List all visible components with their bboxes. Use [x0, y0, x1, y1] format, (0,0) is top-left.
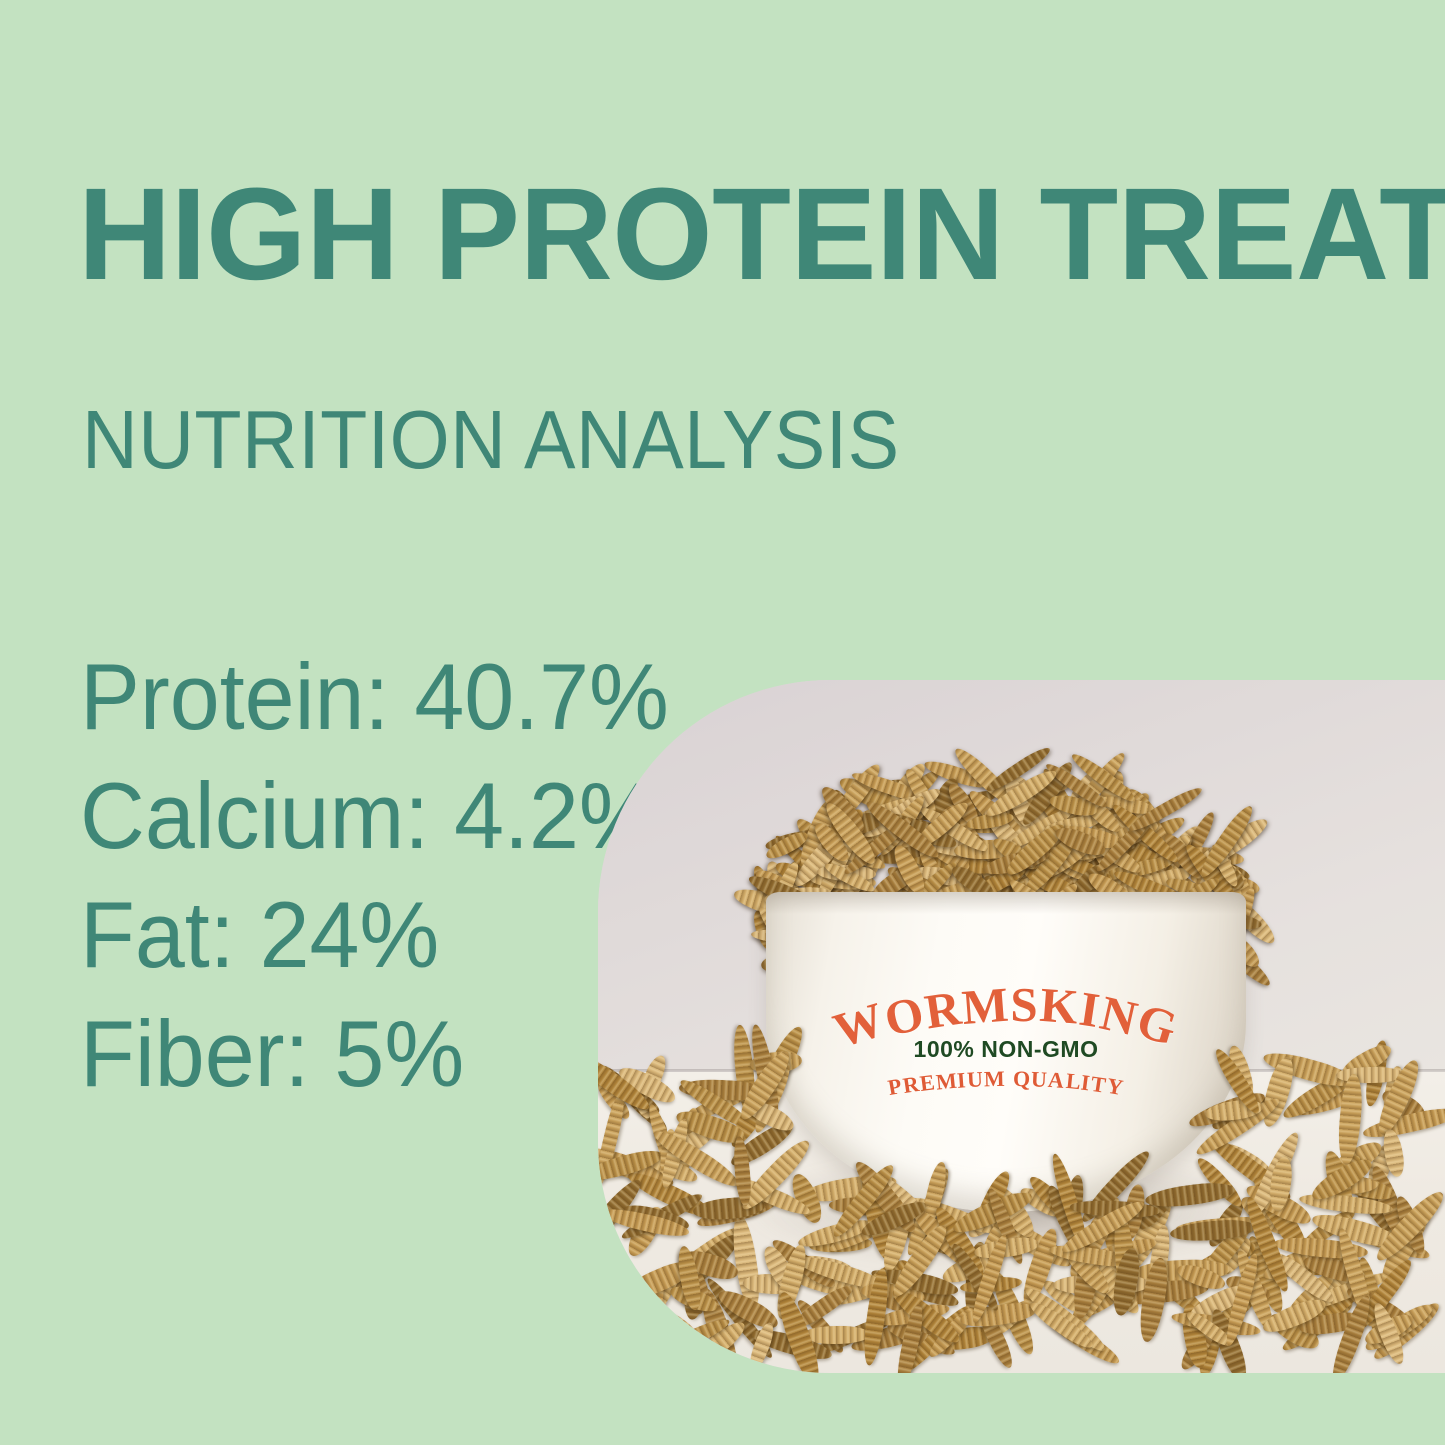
- list-item: Fiber: 5%: [80, 994, 672, 1113]
- poster-canvas: HIGH PROTEIN TREATS NUTRITION ANALYSIS P…: [0, 0, 1445, 1445]
- section-subtitle: NUTRITION ANALYSIS: [82, 398, 900, 481]
- list-item: Protein: 40.7%: [80, 637, 672, 756]
- brand-wordmark: WORMSKING: [766, 980, 1246, 1029]
- scattered-larvae: [598, 1060, 1445, 1373]
- list-item: Fat: 24%: [80, 875, 672, 994]
- page-title: HIGH PROTEIN TREATS: [78, 168, 1445, 299]
- larva: [1144, 1180, 1236, 1211]
- list-item: Calcium: 4.2%: [80, 756, 672, 875]
- product-photo: WORMSKING 100% NON-GMO PREMIUM QUALITY: [598, 680, 1445, 1373]
- non-gmo-claim: 100% NON-GMO: [766, 1038, 1246, 1061]
